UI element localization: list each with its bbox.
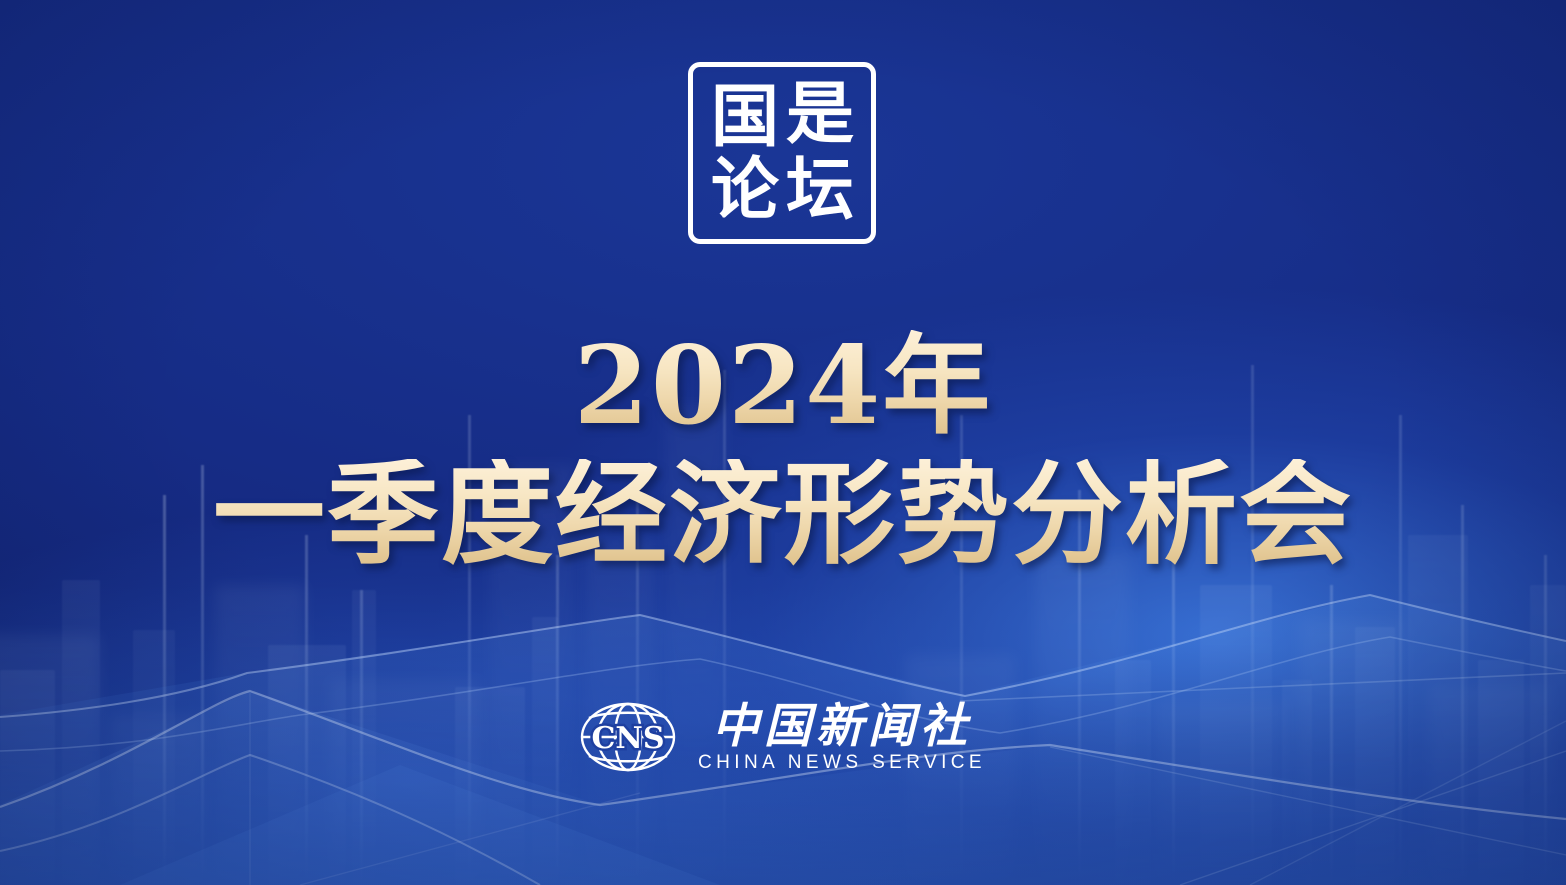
forum-logo-char-2: 是 (782, 76, 858, 151)
title-main: 一季度经济形势分析会 (0, 459, 1566, 571)
title-year: 2024年 (0, 330, 1566, 443)
forum-logo-char-3: 论 (707, 152, 783, 227)
forum-logo-seal: 国 是 论 坛 (688, 62, 876, 244)
poster-canvas: 国 是 论 坛 2024年 一季度经济形势分析会 CNS 中国新闻社 CHINA (0, 0, 1566, 885)
cns-wordmark: 中国新闻社 CHINA NEWS SERVICE (698, 703, 986, 772)
forum-logo-characters: 国 是 论 坛 (706, 78, 858, 228)
cns-chinese-name: 中国新闻社 (712, 703, 972, 750)
cns-globe-icon: CNS (580, 702, 676, 772)
cns-english-name: CHINA NEWS SERVICE (698, 753, 986, 772)
title-block: 2024年 一季度经济形势分析会 (0, 330, 1566, 571)
forum-logo-char-1: 国 (707, 79, 783, 154)
forum-logo-char-4: 坛 (782, 152, 858, 227)
cns-globe-label: CNS (592, 721, 665, 756)
cns-logo: CNS 中国新闻社 CHINA NEWS SERVICE (0, 702, 1566, 772)
